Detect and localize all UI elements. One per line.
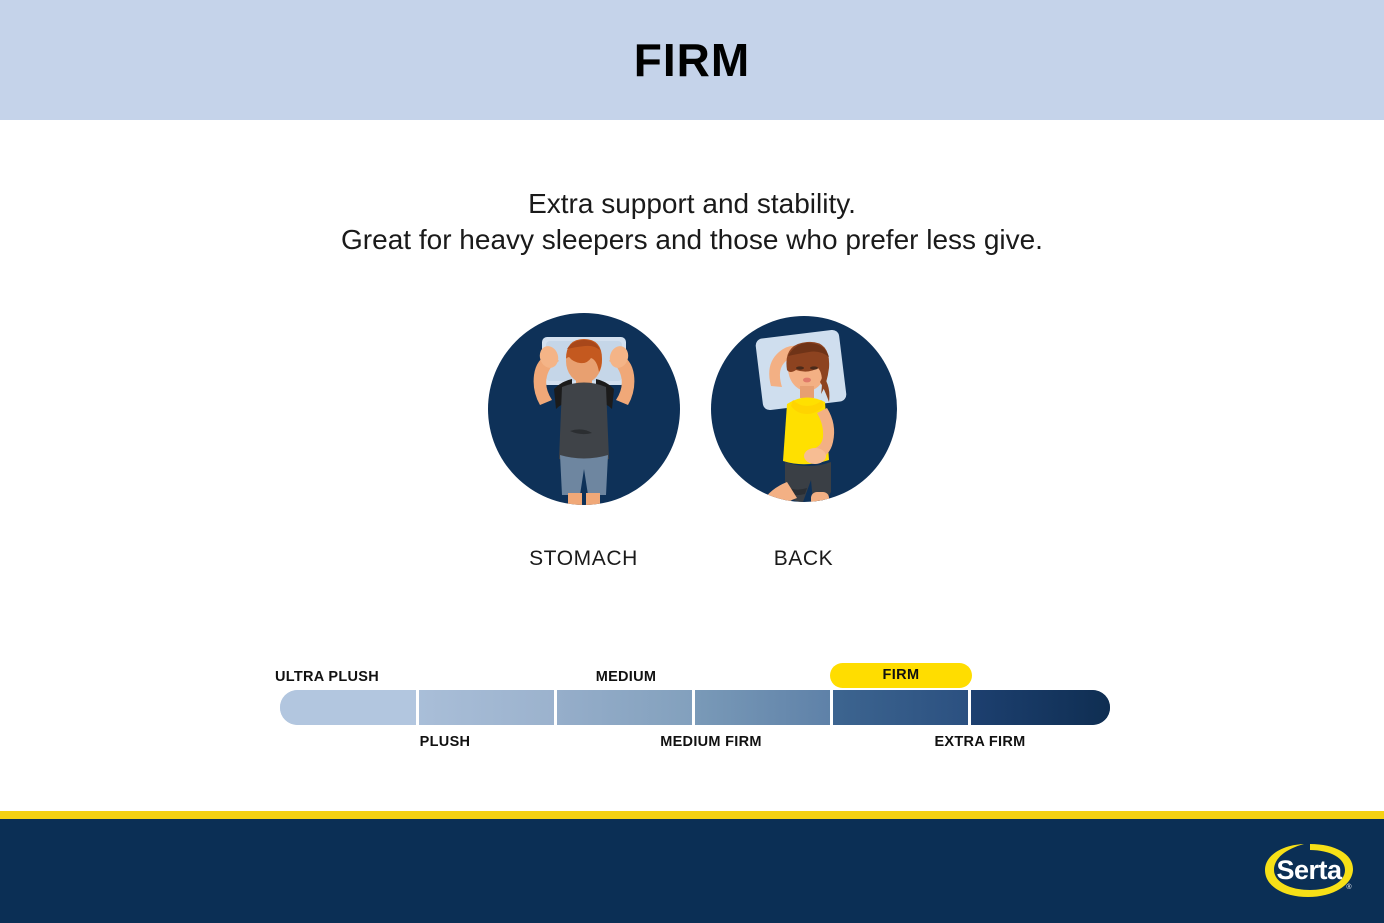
scale-segment-firm[interactable] (832, 690, 970, 725)
back-sleeper-icon (711, 316, 897, 502)
scale-divider-2 (554, 690, 557, 725)
scale-label-medium: MEDIUM (557, 669, 695, 685)
scale-divider-4 (830, 690, 833, 725)
scale-labels-bottom: PLUSH MEDIUM FIRM EXTRA FIRM (280, 725, 1110, 755)
scale-label-plush: PLUSH (376, 734, 514, 750)
scale-segment-plush[interactable] (418, 690, 556, 725)
subtitle-block: Extra support and stability. Great for h… (0, 186, 1384, 259)
scale-segment-medium[interactable] (556, 690, 694, 725)
firmness-scale: ULTRA PLUSH MEDIUM FIRM PLUSH MEDIUM FIR… (280, 658, 1110, 755)
subtitle-line-2: Great for heavy sleepers and those who p… (0, 222, 1384, 258)
footer-accent-rule (0, 811, 1384, 819)
scale-divider-1 (416, 690, 419, 725)
page-title: FIRM (634, 37, 750, 83)
firmness-scale-bar[interactable] (280, 690, 1110, 725)
position-label-stomach: STOMACH (529, 547, 638, 571)
scale-divider-3 (692, 690, 695, 725)
slide-root: FIRM Extra support and stability. Great … (0, 0, 1384, 923)
scale-label-extra-firm: EXTRA FIRM (900, 734, 1060, 750)
scale-segment-medium-firm[interactable] (694, 690, 832, 725)
stomach-sleeper-icon (488, 313, 680, 505)
scale-divider-5 (968, 690, 971, 725)
registered-mark: ® (1346, 883, 1352, 891)
position-card-back: BACK (711, 313, 897, 571)
position-label-back: BACK (774, 547, 834, 571)
subtitle-line-1: Extra support and stability. (0, 186, 1384, 222)
scale-label-ultra-plush: ULTRA PLUSH (275, 669, 425, 685)
scale-labels-top: ULTRA PLUSH MEDIUM FIRM (280, 658, 1110, 690)
footer-bar: Serta ® (0, 819, 1384, 923)
serta-logo[interactable]: Serta ® (1260, 839, 1360, 903)
header-bar: FIRM (0, 0, 1384, 120)
svg-text:Serta: Serta (1276, 855, 1343, 885)
sleep-positions-group: STOMACH (0, 313, 1384, 571)
scale-segment-extra-firm[interactable] (970, 690, 1110, 725)
scale-badge-firm[interactable]: FIRM (830, 663, 972, 688)
scale-segment-ultra-plush[interactable] (280, 690, 418, 725)
position-card-stomach: STOMACH (488, 313, 680, 571)
scale-label-medium-firm: MEDIUM FIRM (621, 734, 801, 750)
